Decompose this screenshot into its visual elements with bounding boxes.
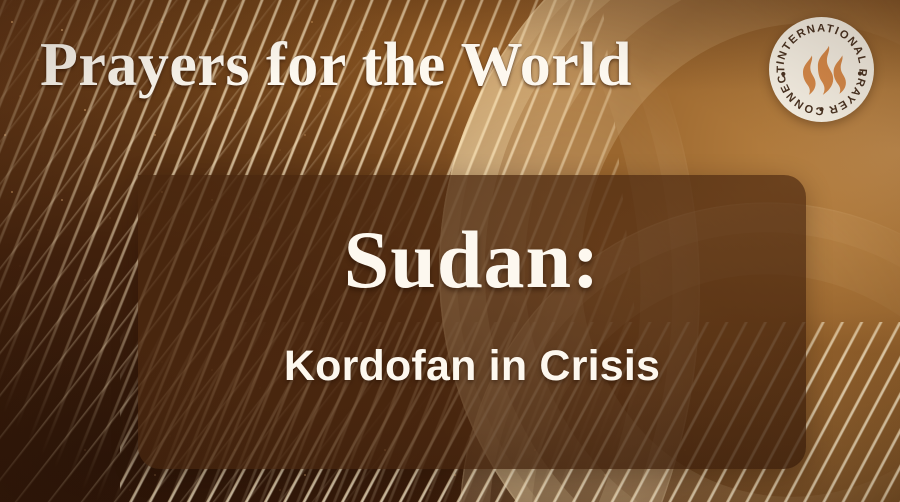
slide-canvas: Prayers for the World INTERNATIONAL PRAY… [0, 0, 900, 502]
panel-heading: Sudan: [138, 219, 806, 301]
page-title: Prayers for the World [40, 34, 632, 96]
panel-subheading: Kordofan in Crisis [138, 345, 806, 388]
content-panel: Sudan: Kordofan in Crisis [138, 175, 806, 469]
organization-logo-badge[interactable]: INTERNATIONAL PRAYER CONNECT [769, 17, 874, 122]
logo-seal-icon: INTERNATIONAL PRAYER CONNECT [769, 17, 874, 122]
